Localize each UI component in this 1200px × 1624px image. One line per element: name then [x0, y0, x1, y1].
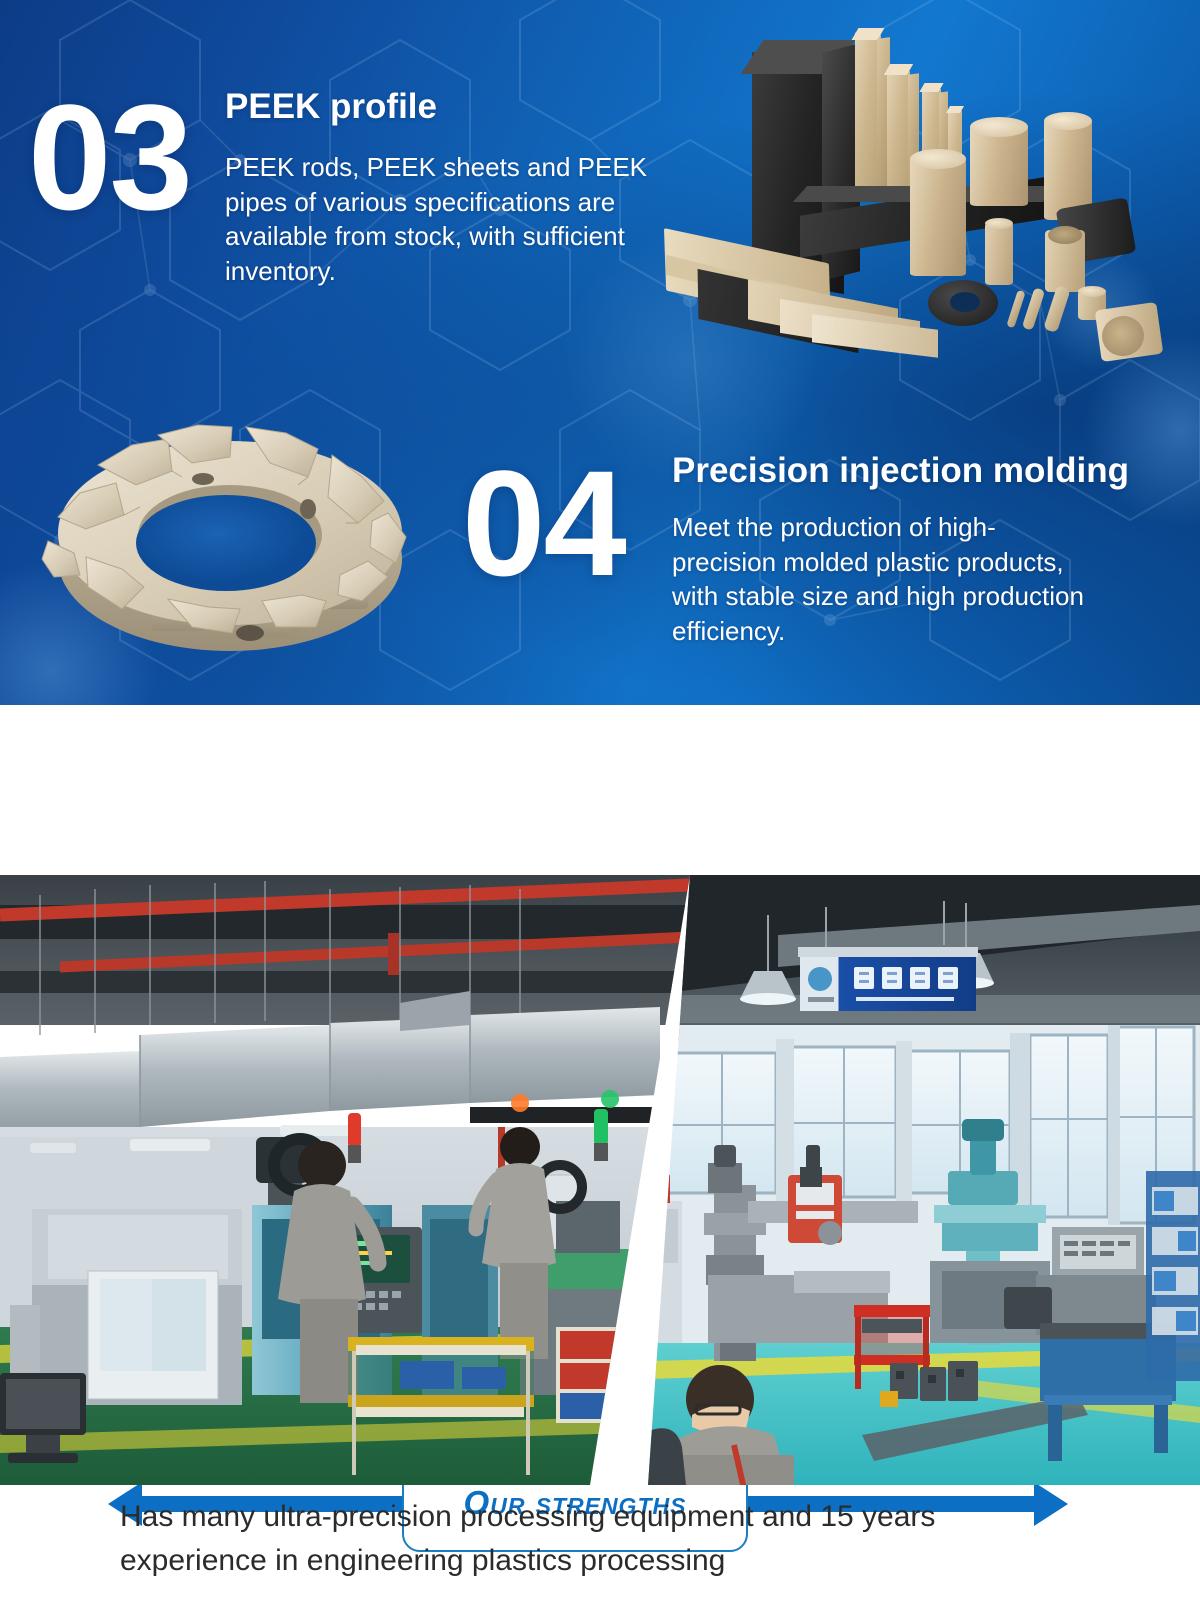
mold-workshop-photo — [648, 875, 1200, 1485]
feature-title-03: PEEK profile — [225, 88, 655, 127]
workshop-photo-gallery — [0, 875, 1200, 1485]
caption-line-1: Has many ultra-precision processing equi… — [0, 1495, 1200, 1539]
product-feature-page: 03 PEEK profile PEEK rods, PEEK sheets a… — [0, 0, 1200, 1624]
feature-description-04: Meet the production of high-precision mo… — [672, 510, 1092, 648]
feature-number-03: 03 — [28, 82, 191, 232]
feature-description-03: PEEK rods, PEEK sheets and PEEK pipes of… — [225, 150, 650, 288]
peek-profile-product-image — [660, 18, 1190, 368]
page-caption: Has many ultra-precision processing equi… — [0, 1495, 1200, 1582]
our-strengths-banner: Our strengths — [0, 705, 1200, 875]
feature-number-04: 04 — [462, 448, 625, 598]
hero-panel: 03 PEEK profile PEEK rods, PEEK sheets a… — [0, 0, 1200, 705]
peek-gear-ring-image — [40, 405, 420, 660]
feature-title-04: Precision injection molding — [672, 452, 1192, 491]
cnc-workshop-photo — [0, 875, 690, 1485]
caption-line-2: experience in engineering plastics proce… — [0, 1539, 1200, 1583]
